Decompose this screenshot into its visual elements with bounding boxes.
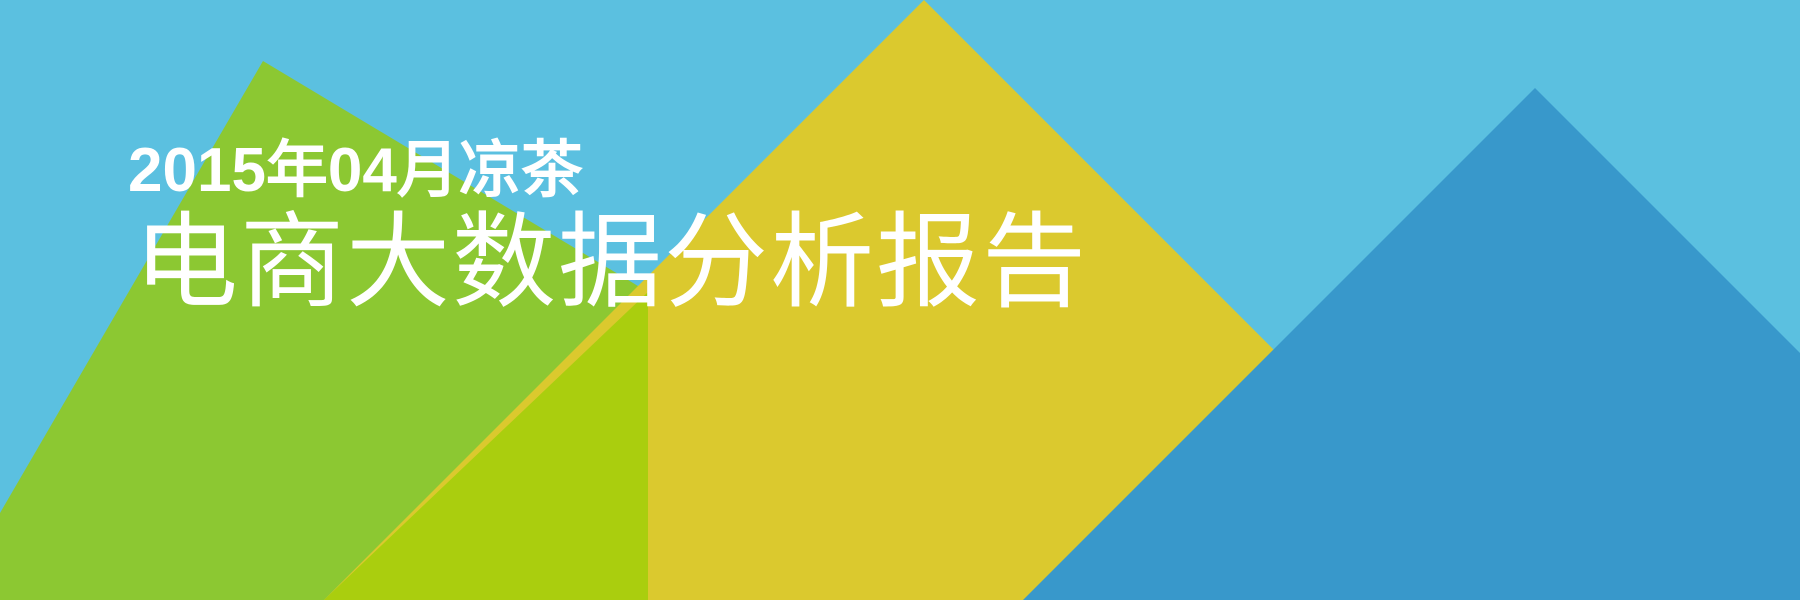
report-cover-banner: 2015年04月凉茶 电商大数据分析报告 bbox=[0, 0, 1800, 600]
geometric-background bbox=[0, 0, 1800, 600]
